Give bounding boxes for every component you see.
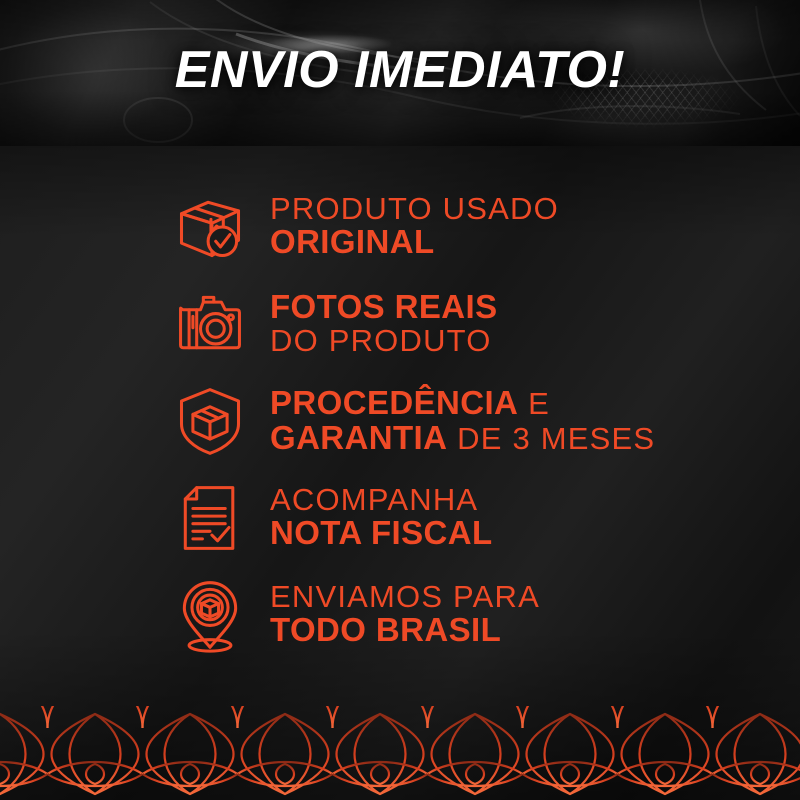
feature-line-2: TODO BRASIL — [270, 613, 540, 647]
feature-line-2-bold: GARANTIA — [270, 419, 447, 456]
feature-labels: PROCEDÊNCIA E GARANTIA DE 3 MESES — [270, 386, 655, 455]
feature-labels: PRODUTO USADO ORIGINAL — [270, 193, 559, 260]
footer-ornament-pattern — [0, 706, 800, 800]
banner-header: ENVIO IMEDIATO! — [0, 0, 800, 146]
feature-list: PRODUTO USADO ORIGINAL FOTOS REAIS — [0, 178, 800, 663]
feature-labels: FOTOS REAIS DO PRODUTO — [270, 290, 498, 357]
feature-line-1: PRODUTO USADO — [270, 193, 559, 225]
feature-line-2: DO PRODUTO — [270, 325, 498, 357]
feature-line-2: ORIGINAL — [270, 225, 559, 259]
feature-line-2: NOTA FISCAL — [270, 516, 493, 550]
feature-item-produto-original: PRODUTO USADO ORIGINAL — [0, 178, 800, 275]
feature-line-2-light: DE 3 MESES — [447, 421, 655, 456]
promo-banner: ENVIO IMEDIATO! PRODUTO USADO ORIGINAL — [0, 0, 800, 800]
feature-line-1-light: E — [518, 386, 550, 421]
feature-item-todo-brasil: ENVIAMOS PARA TODO BRASIL — [0, 566, 800, 663]
feature-line-1-bold: PROCEDÊNCIA — [270, 384, 518, 421]
feature-line-1: ACOMPANHA — [270, 484, 493, 516]
feature-labels: ENVIAMOS PARA TODO BRASIL — [270, 581, 540, 648]
feature-line-1: ENVIAMOS PARA — [270, 581, 540, 613]
feature-item-nota-fiscal: ACOMPANHA NOTA FISCAL — [0, 469, 800, 566]
invoice-document-check-icon — [168, 480, 252, 556]
feature-line-1: FOTOS REAIS — [270, 290, 498, 324]
feature-labels: ACOMPANHA NOTA FISCAL — [270, 484, 493, 551]
feature-line-2: GARANTIA DE 3 MESES — [270, 421, 655, 455]
page-title: ENVIO IMEDIATO! — [0, 44, 800, 96]
feature-item-fotos-reais: FOTOS REAIS DO PRODUTO — [0, 275, 800, 372]
camera-icon — [168, 286, 252, 362]
shield-box-icon — [168, 383, 252, 459]
feature-line-1: PROCEDÊNCIA E — [270, 386, 655, 420]
package-box-check-icon — [168, 189, 252, 265]
feature-item-procedencia-garantia: PROCEDÊNCIA E GARANTIA DE 3 MESES — [0, 372, 800, 469]
location-pin-box-icon — [168, 577, 252, 653]
